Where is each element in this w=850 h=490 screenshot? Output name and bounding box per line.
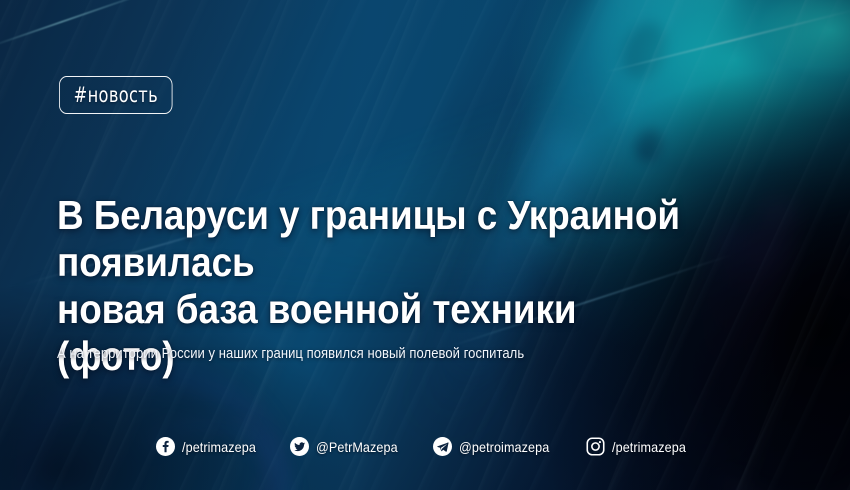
card-content: #новость В Беларуси у границы с Украиной… [0, 0, 850, 490]
twitter-icon [290, 437, 309, 456]
social-handle-facebook: /petrimazepa [182, 440, 256, 454]
social-handle-twitter: @PetrMazepa [316, 440, 398, 454]
social-item-telegram[interactable]: @petroimazepa [433, 437, 559, 456]
social-handle-telegram: @petroimazepa [459, 440, 549, 454]
social-handle-instagram: /petrimazepa [612, 440, 686, 454]
instagram-icon [586, 437, 605, 456]
category-badge[interactable]: #новость [59, 76, 173, 114]
subtitle: А на территории России у наших границ по… [57, 345, 705, 364]
social-links: /petrimazepa @PetrMazepa @petroimazepa [0, 437, 850, 456]
social-item-twitter[interactable]: @PetrMazepa [290, 437, 407, 456]
social-item-facebook[interactable]: /petrimazepa [156, 437, 264, 456]
telegram-icon [433, 437, 452, 456]
social-item-instagram[interactable]: /petrimazepa [586, 437, 694, 456]
news-card: #новость В Беларуси у границы с Украиной… [0, 0, 850, 490]
facebook-icon [156, 437, 175, 456]
